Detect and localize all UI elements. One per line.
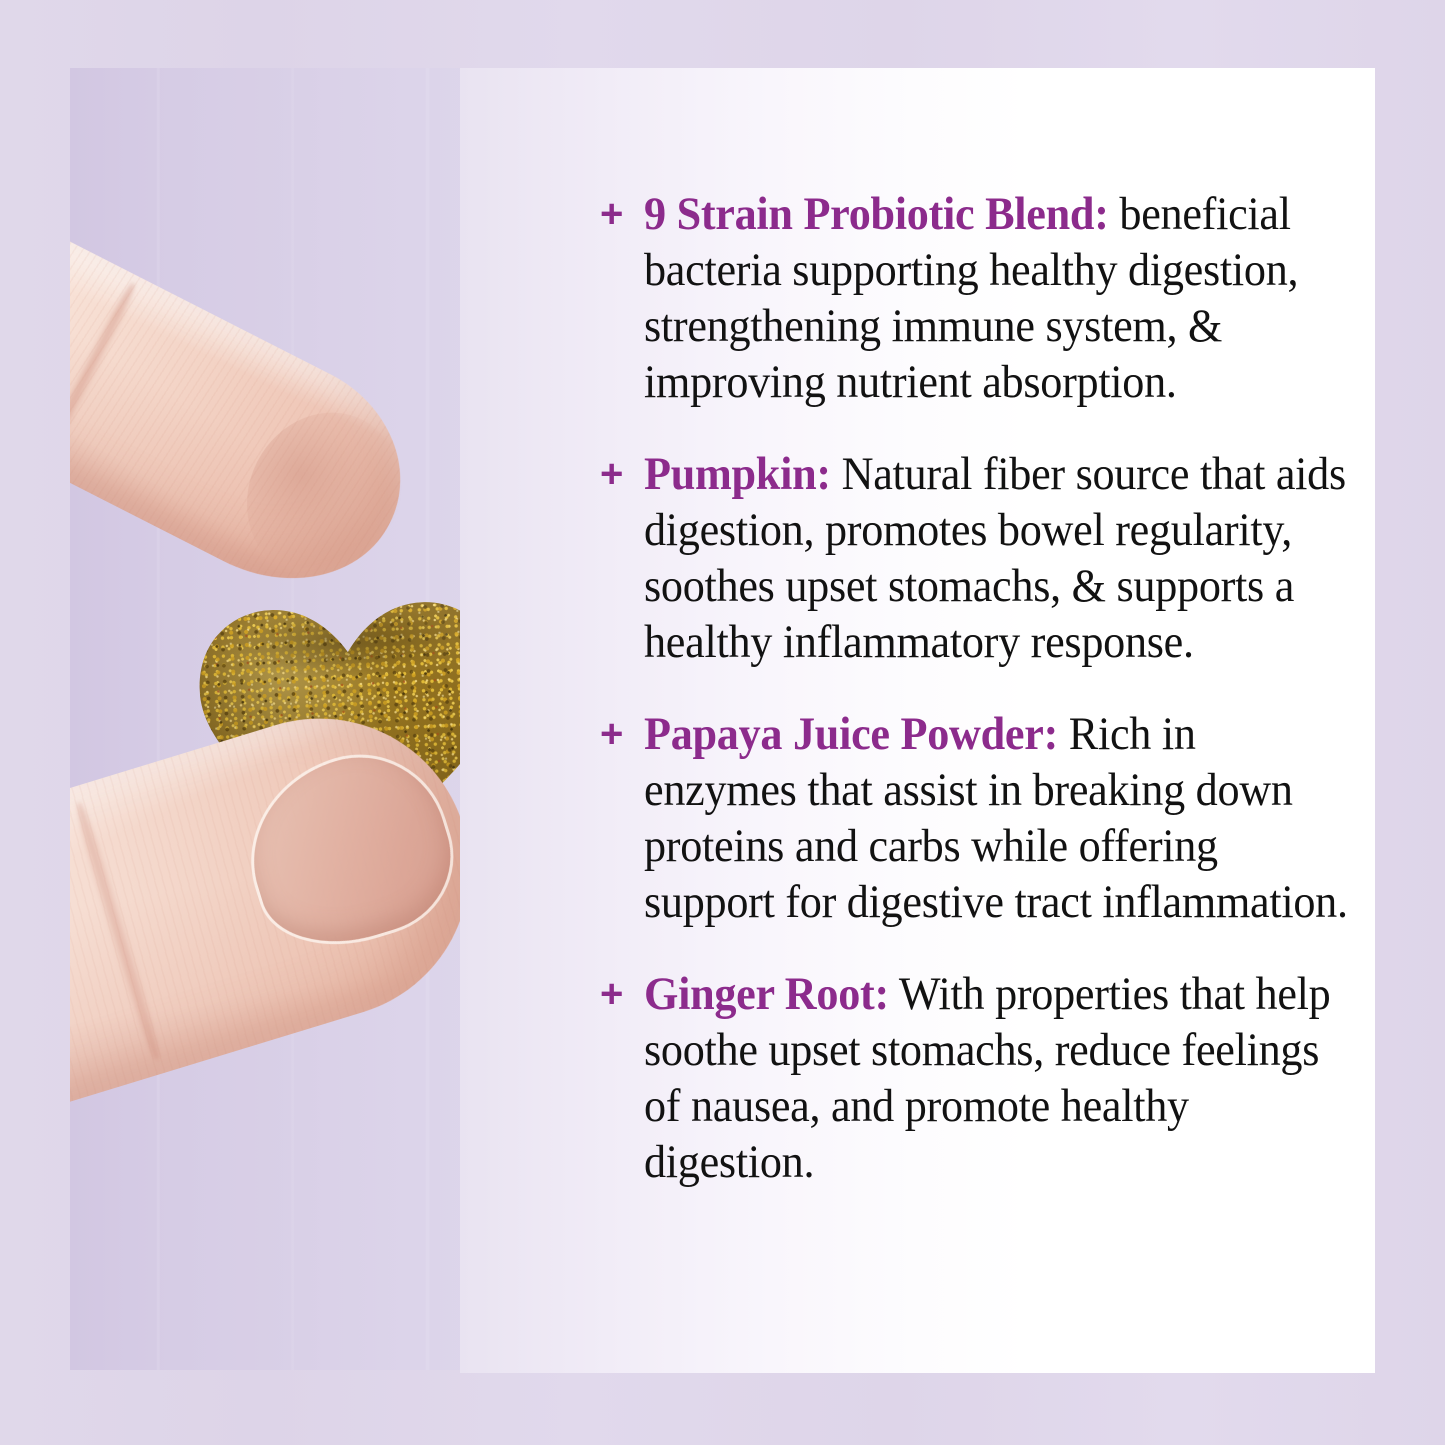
ingredient-text: 9 Strain Probiotic Blend: beneficial bac… bbox=[644, 186, 1355, 410]
list-item: + 9 Strain Probiotic Blend: beneficial b… bbox=[600, 186, 1375, 410]
index-finger bbox=[70, 175, 438, 621]
inner-card: + 9 Strain Probiotic Blend: beneficial b… bbox=[70, 68, 1375, 1373]
ingredient-title: 9 Strain Probiotic Blend: bbox=[644, 188, 1109, 240]
ingredient-title: Pumpkin: bbox=[644, 448, 831, 500]
infographic-canvas: + 9 Strain Probiotic Blend: beneficial b… bbox=[0, 0, 1445, 1445]
plus-icon: + bbox=[600, 966, 644, 1022]
plus-icon: + bbox=[600, 446, 644, 502]
ingredient-text-panel: + 9 Strain Probiotic Blend: beneficial b… bbox=[460, 68, 1375, 1373]
ingredient-text: Papaya Juice Powder: Rich in enzymes tha… bbox=[644, 706, 1355, 930]
ingredient-text: Pumpkin: Natural fiber source that aids … bbox=[644, 446, 1355, 670]
finger-skin-texture bbox=[70, 175, 438, 621]
ingredient-text: Ginger Root: With properties that help s… bbox=[644, 966, 1355, 1190]
plus-icon: + bbox=[600, 186, 644, 242]
list-item: + Papaya Juice Powder: Rich in enzymes t… bbox=[600, 706, 1375, 930]
ingredient-title: Ginger Root: bbox=[644, 968, 889, 1020]
ingredient-title: Papaya Juice Powder: bbox=[644, 708, 1058, 760]
ingredient-list: + 9 Strain Probiotic Blend: beneficial b… bbox=[600, 186, 1375, 1190]
plus-icon: + bbox=[600, 706, 644, 762]
list-item: + Pumpkin: Natural fiber source that aid… bbox=[600, 446, 1375, 670]
list-item: + Ginger Root: With properties that help… bbox=[600, 966, 1375, 1190]
